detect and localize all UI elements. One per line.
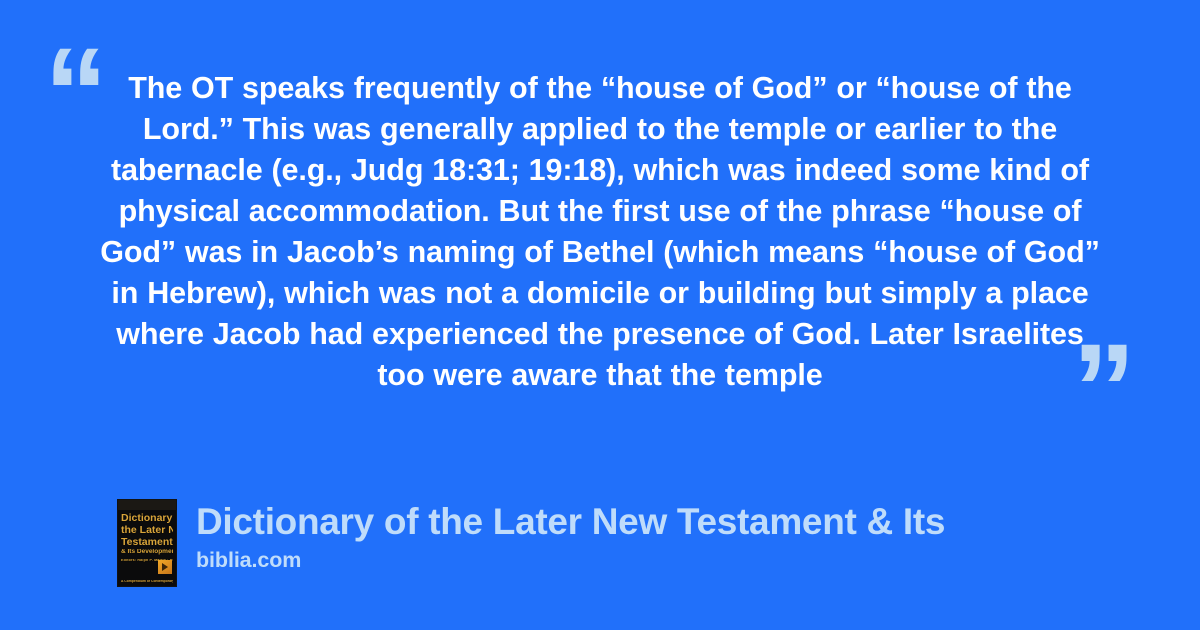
- quote-card: “ The OT speaks frequently of the “house…: [0, 0, 1200, 630]
- book-cover-title-line-3: Testament: [121, 537, 173, 548]
- book-cover-publisher-icon: [158, 560, 172, 574]
- book-title: Dictionary of the Later New Testament & …: [196, 500, 945, 544]
- book-cover-title-line-1: Dictionary: [121, 513, 173, 524]
- book-cover-tagline: A Compendium of Contemporary Biblical Sc…: [121, 580, 173, 583]
- book-cover-thumbnail: Dictionary the Later New Testament & Its…: [118, 500, 176, 586]
- open-quote-icon: “: [44, 30, 106, 158]
- footer-text-group: Dictionary of the Later New Testament & …: [196, 500, 945, 573]
- footer: Dictionary the Later New Testament & Its…: [118, 500, 945, 586]
- book-cover-title-line-2: the Later New: [121, 525, 173, 536]
- book-cover-top-band: [118, 500, 176, 510]
- close-quote-icon: ”: [1072, 326, 1134, 454]
- quote-block: “ The OT speaks frequently of the “house…: [0, 46, 1200, 416]
- site-url: biblia.com: [196, 547, 945, 573]
- book-cover-subtitle: & Its Developments: [121, 549, 173, 556]
- quote-text: The OT speaks frequently of the “house o…: [100, 68, 1100, 396]
